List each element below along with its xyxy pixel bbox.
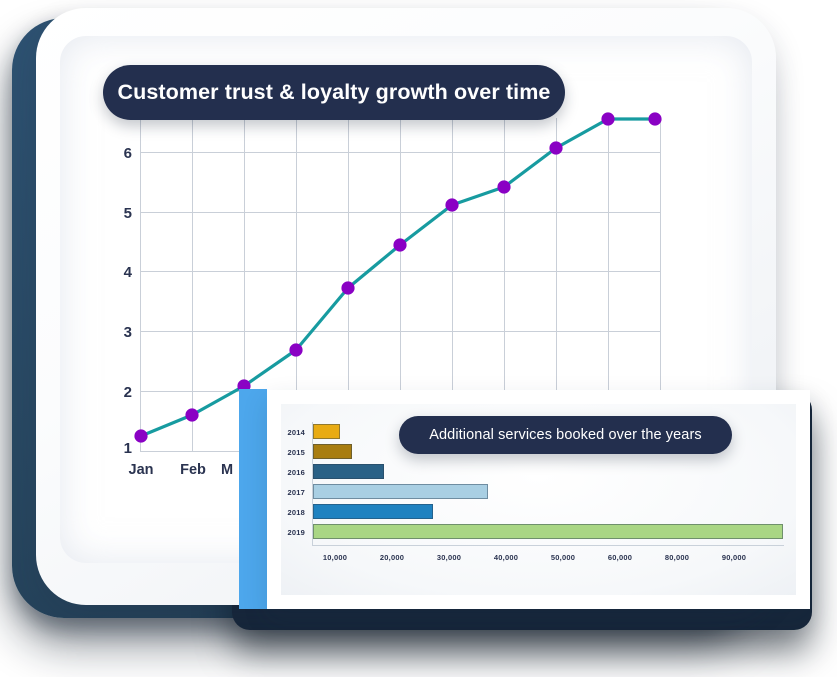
bar-category-label: 2017 bbox=[271, 488, 305, 497]
bar-rect bbox=[313, 424, 340, 439]
bar-chart-title-pill: Additional services booked over the year… bbox=[399, 416, 732, 454]
bar-rect bbox=[313, 524, 783, 539]
line-chart-title-pill: Customer trust & loyalty growth over tim… bbox=[103, 65, 565, 120]
bar-category-label: 2018 bbox=[271, 508, 305, 517]
bar-category-label: 2014 bbox=[271, 428, 305, 437]
bar-category-label: 2016 bbox=[271, 468, 305, 477]
bar-chart-title-text: Additional services booked over the year… bbox=[429, 427, 702, 443]
bar-x-tick-30000: 30,000 bbox=[428, 553, 470, 562]
screenshot-stage: 6 5 4 3 2 1 Jan Feb M Customer trust & l… bbox=[0, 0, 837, 677]
bar-x-tick-20000: 20,000 bbox=[371, 553, 413, 562]
line-y-tick-1: 1 bbox=[110, 440, 132, 457]
bar-x-tick-60000: 60,000 bbox=[599, 553, 641, 562]
highlight-blue-bar bbox=[239, 389, 267, 609]
bar-category-label: 2019 bbox=[271, 528, 305, 537]
bar-row: 2018 bbox=[267, 504, 784, 519]
bar-rect bbox=[313, 504, 433, 519]
bar-rect bbox=[313, 444, 352, 459]
bar-x-tick-90000: 90,000 bbox=[713, 553, 755, 562]
line-y-tick-6: 6 bbox=[110, 145, 132, 162]
line-y-tick-3: 3 bbox=[110, 324, 132, 341]
bar-chart-axis-line bbox=[312, 545, 784, 546]
bar-x-tick-40000: 40,000 bbox=[485, 553, 527, 562]
bar-rect bbox=[313, 464, 384, 479]
bar-rect bbox=[313, 484, 488, 499]
line-y-tick-4: 4 bbox=[110, 264, 132, 281]
bar-row: 2019 bbox=[267, 524, 784, 539]
bar-x-tick-10000: 10,000 bbox=[314, 553, 356, 562]
line-chart-title-text: Customer trust & loyalty growth over tim… bbox=[118, 80, 551, 105]
bar-x-tick-80000: 80,000 bbox=[656, 553, 698, 562]
line-x-tick-feb: Feb bbox=[169, 462, 217, 478]
line-y-tick-2: 2 bbox=[110, 384, 132, 401]
line-x-tick-jan: Jan bbox=[117, 462, 165, 478]
bar-row: 2017 bbox=[267, 484, 784, 499]
bar-x-tick-50000: 50,000 bbox=[542, 553, 584, 562]
line-y-tick-5: 5 bbox=[110, 205, 132, 222]
bar-row: 2016 bbox=[267, 464, 784, 479]
bar-category-label: 2015 bbox=[271, 448, 305, 457]
